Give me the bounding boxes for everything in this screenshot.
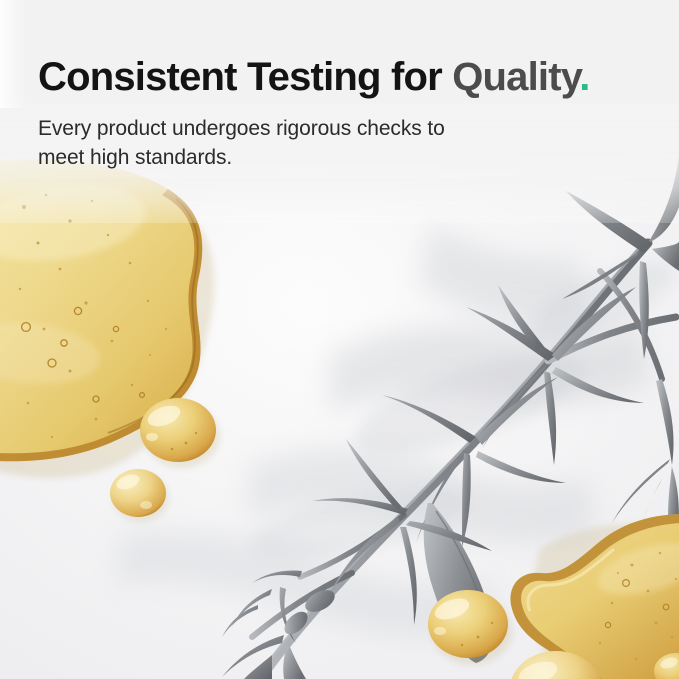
page-title: Consistent Testing for Quality.: [38, 54, 638, 100]
subtitle-line-1: Every product undergoes rigorous checks …: [38, 114, 508, 143]
copy-block: Consistent Testing for Quality. Every pr…: [38, 54, 638, 172]
headline-accent-word: Quality: [452, 55, 579, 99]
page-subtitle: Every product undergoes rigorous checks …: [38, 114, 508, 172]
headline-accent-dot: .: [579, 55, 589, 99]
product-photo-illustration: [0, 103, 679, 679]
product-photo: [0, 103, 679, 679]
quality-banner: Consistent Testing for Quality. Every pr…: [0, 0, 679, 679]
subtitle-line-2: meet high standards.: [38, 143, 508, 172]
photo-left-seam: [0, 0, 28, 108]
headline-lead: Consistent Testing for: [38, 55, 452, 99]
